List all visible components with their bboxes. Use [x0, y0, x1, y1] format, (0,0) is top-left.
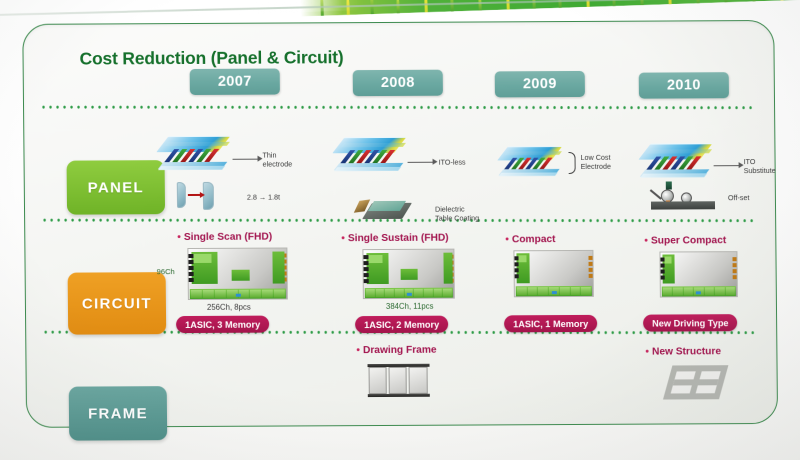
year-chip-2008-label: 2008 [381, 75, 415, 91]
year-chip-2010[interactable]: 2010 [639, 72, 729, 98]
year-chip-2009[interactable]: 2009 [495, 71, 585, 97]
callout-label-thin-electrode: Thin electrode [262, 150, 292, 168]
frame-heading-2008: Drawing Frame [356, 345, 436, 356]
circuit-left-note-2007: 96Ch [157, 267, 175, 277]
pcb-icon-2008 [362, 249, 454, 299]
offset-printing-icon-2010 [651, 181, 721, 213]
category-label-panel: PANEL [88, 179, 144, 196]
separator-under-years [40, 106, 756, 110]
circuit-tag-2010[interactable]: New Driving Type [643, 314, 738, 331]
year-chip-2008[interactable]: 2008 [353, 70, 443, 96]
note-dielectric-2008: Dielectric Table Coating [435, 204, 479, 222]
frame-heading-2010: New Structure [645, 346, 721, 357]
callout-arrow-2008-panel [408, 162, 434, 164]
note-offset-2010: Off-set [728, 193, 750, 202]
callout-arrow-2010-panel [714, 165, 740, 167]
callout-label-low-cost-electrode: Low Cost Electrode [580, 153, 611, 171]
category-pill-panel[interactable]: PANEL [67, 160, 166, 215]
circuit-bottom-note-2007: 256Ch, 8pcs [207, 303, 251, 313]
circuit-heading-2007: Single Scan (FHD) [177, 232, 272, 243]
brace-2009-panel [568, 152, 575, 174]
thickness-reduction-icon-2007 [177, 182, 243, 214]
circuit-tag-2009[interactable]: 1ASIC, 1 Memory [504, 315, 597, 332]
page-title: Cost Reduction (Panel & Circuit) [79, 47, 343, 69]
dielectric-chip-icon-2008 [357, 199, 413, 225]
circuit-heading-2009: Compact [505, 234, 555, 245]
category-label-circuit: CIRCUIT [82, 295, 152, 312]
slide-photo-screenshot: Cost Reduction (Panel & Circuit) 2007 20… [0, 0, 800, 460]
grass-banner-image [300, 0, 800, 16]
pcb-icon-2010 [659, 251, 737, 297]
circuit-tag-2008[interactable]: 1ASIC, 2 Memory [355, 316, 448, 333]
callout-arrow-2007-panel [233, 159, 259, 161]
callout-label-ito-substitute: ITO Substitute [744, 157, 776, 175]
year-chip-2007-label: 2007 [218, 74, 252, 90]
circuit-heading-2010: Super Compact [644, 235, 726, 246]
note-thickness-2007: 2.8 → 1.8t [247, 193, 280, 202]
drawing-frame-icon [368, 363, 430, 399]
slide-card: Cost Reduction (Panel & Circuit) 2007 20… [22, 20, 778, 428]
category-pill-circuit[interactable]: CIRCUIT [68, 272, 167, 335]
category-pill-frame[interactable]: FRAME [69, 386, 168, 441]
circuit-tag-2007[interactable]: 1ASIC, 3 Memory [176, 316, 269, 333]
year-chip-2010-label: 2010 [667, 77, 701, 93]
pcb-icon-2009 [513, 250, 593, 297]
new-structure-frame-icon [663, 365, 728, 399]
year-chip-2007[interactable]: 2007 [190, 69, 280, 95]
pcb-icon-2007 [187, 247, 287, 300]
circuit-bottom-note-2008: 384Ch, 11pcs [386, 302, 434, 312]
category-label-frame: FRAME [88, 405, 148, 422]
callout-label-ito-less: ITO-less [439, 158, 466, 167]
year-chip-2009-label: 2009 [523, 76, 557, 92]
circuit-heading-2008: Single Sustain (FHD) [341, 233, 448, 245]
